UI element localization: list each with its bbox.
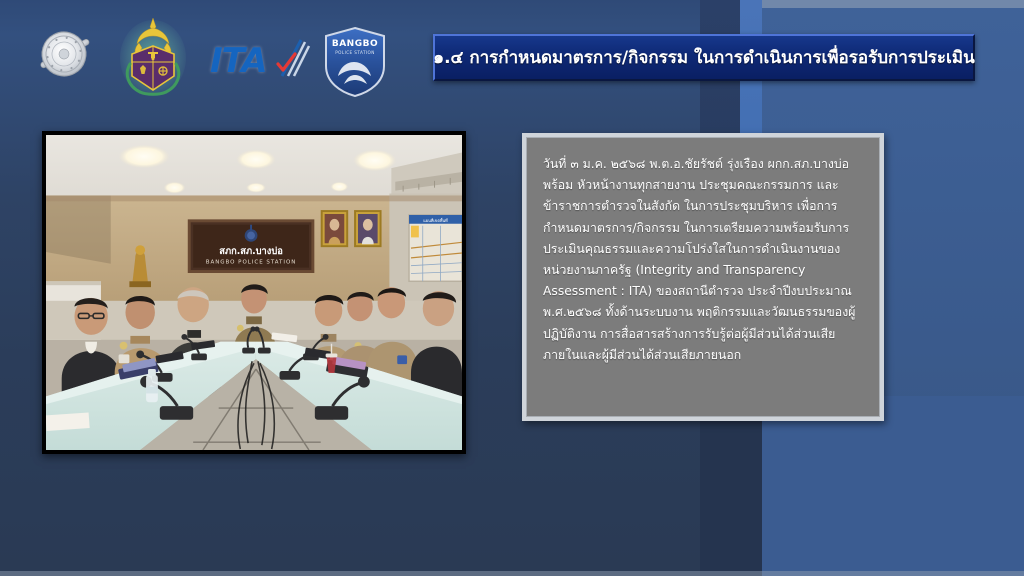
ita-logo-icon: ITA (208, 34, 312, 84)
svg-text:BANGBO: BANGBO (332, 39, 378, 49)
svg-text:BANGBO POLICE STATION: BANGBO POLICE STATION (206, 260, 297, 266)
slide-title-text: ๑.๔ การกำหนดมาตรการ/กิจกรรม ในการดำเนินก… (433, 44, 974, 71)
background-band-lower-dark (700, 396, 762, 576)
background-band-lower-right (762, 396, 1024, 576)
top-strip (762, 0, 1024, 8)
svg-text:ITA: ITA (210, 41, 267, 81)
meeting-photo: สภก.สภ.บางบ่อ BANGBO POLICE STATION แผนท… (42, 131, 466, 454)
svg-text:POLICE STATION: POLICE STATION (335, 50, 375, 55)
svg-text:แผนที่เขตพื้นที่: แผนที่เขตพื้นที่ (423, 216, 448, 223)
bangbo-police-badge-icon: BANGBO POLICE STATION (322, 26, 388, 98)
slide-canvas: ITA (0, 0, 1024, 576)
royal-thai-police-crest-icon (118, 14, 188, 96)
logo-row: ITA (0, 0, 420, 110)
description-panel-inner: วันที่ ๓ ม.ค. ๒๕๖๘ พ.ต.อ.ชัยรัชต์ รุ่งเร… (526, 137, 880, 417)
royal-thai-police-seal-icon (18, 18, 110, 90)
description-panel: วันที่ ๓ ม.ค. ๒๕๖๘ พ.ต.อ.ชัยรัชต์ รุ่งเร… (522, 133, 884, 421)
bottom-strip (0, 571, 1024, 576)
svg-text:สภก.สภ.บางบ่อ: สภก.สภ.บางบ่อ (219, 246, 283, 257)
description-text: วันที่ ๓ ม.ค. ๒๕๖๘ พ.ต.อ.ชัยรัชต์ รุ่งเร… (543, 154, 865, 366)
slide-title-bar: ๑.๔ การกำหนดมาตรการ/กิจกรรม ในการดำเนินก… (433, 34, 975, 81)
